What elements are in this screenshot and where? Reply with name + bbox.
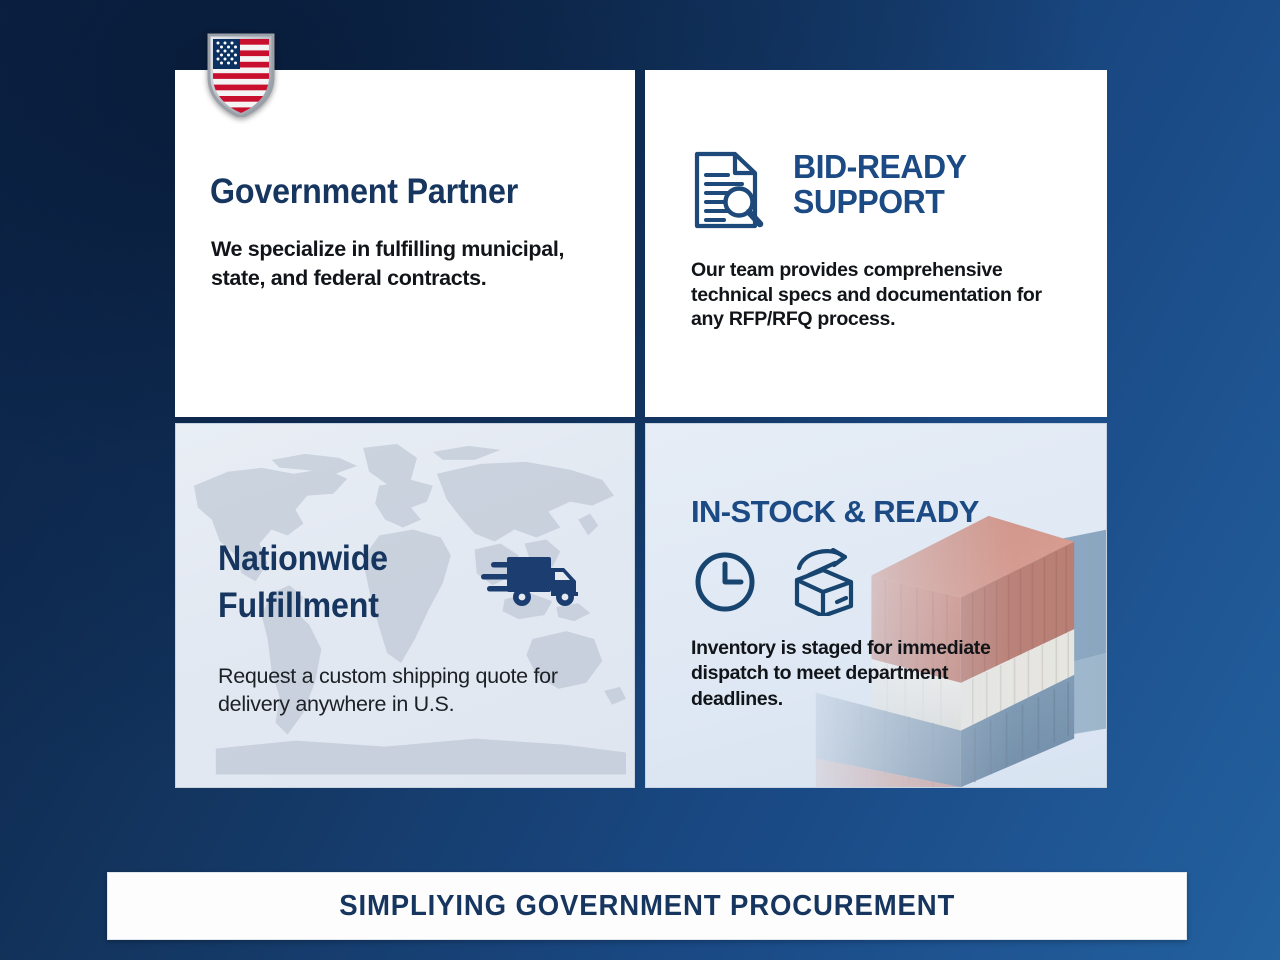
nationwide-fulfillment-title: Nationwide Fulfillment: [218, 536, 388, 629]
in-stock-ready-title: IN-STOCK & READY: [691, 496, 979, 529]
box-rotate-arrow-icon: [797, 550, 851, 616]
government-partner-body: We specialize in fulfilling municipal, s…: [211, 235, 616, 293]
in-stock-ready-body: Inventory is staged for immediate dispat…: [691, 636, 1026, 712]
feature-card-grid: Government Partner We specialize in fulf…: [175, 70, 1107, 788]
bid-ready-support-body: Our team provides comprehensive technica…: [691, 258, 1051, 332]
nationwide-fulfillment-title-line1: Nationwide: [218, 539, 388, 578]
slide-canvas: Government Partner We specialize in fulf…: [0, 0, 1280, 960]
delivery-truck-icon: [481, 548, 589, 610]
footer-tagline-text: SIMPLIYING GOVERNMENT PROCUREMENT: [339, 890, 955, 923]
nationwide-fulfillment-body: Request a custom shipping quote for deli…: [218, 662, 618, 719]
usa-flag-shield-icon: [207, 33, 275, 117]
card-in-stock-ready[interactable]: IN-STOCK & READY: [645, 423, 1107, 788]
document-magnifier-icon: [692, 150, 764, 230]
footer-tagline-banner: SIMPLIYING GOVERNMENT PROCUREMENT: [107, 872, 1187, 940]
clock-icon: [698, 555, 752, 609]
nationwide-fulfillment-title-line2: Fulfillment: [218, 586, 379, 625]
in-stock-ready-icon-row: [691, 548, 881, 616]
bid-ready-support-title: BID-READY SUPPORT: [793, 150, 966, 220]
government-partner-title: Government Partner: [210, 174, 518, 209]
card-government-partner[interactable]: Government Partner We specialize in fulf…: [175, 70, 635, 417]
bid-ready-support-title-line1: BID-READY: [793, 148, 966, 185]
bid-ready-support-title-line2: SUPPORT: [793, 183, 944, 220]
card-bid-ready-support[interactable]: BID-READY SUPPORT Our team provides comp…: [645, 70, 1107, 417]
card-nationwide-fulfillment[interactable]: Nationwide Fulfillment: [175, 423, 635, 788]
